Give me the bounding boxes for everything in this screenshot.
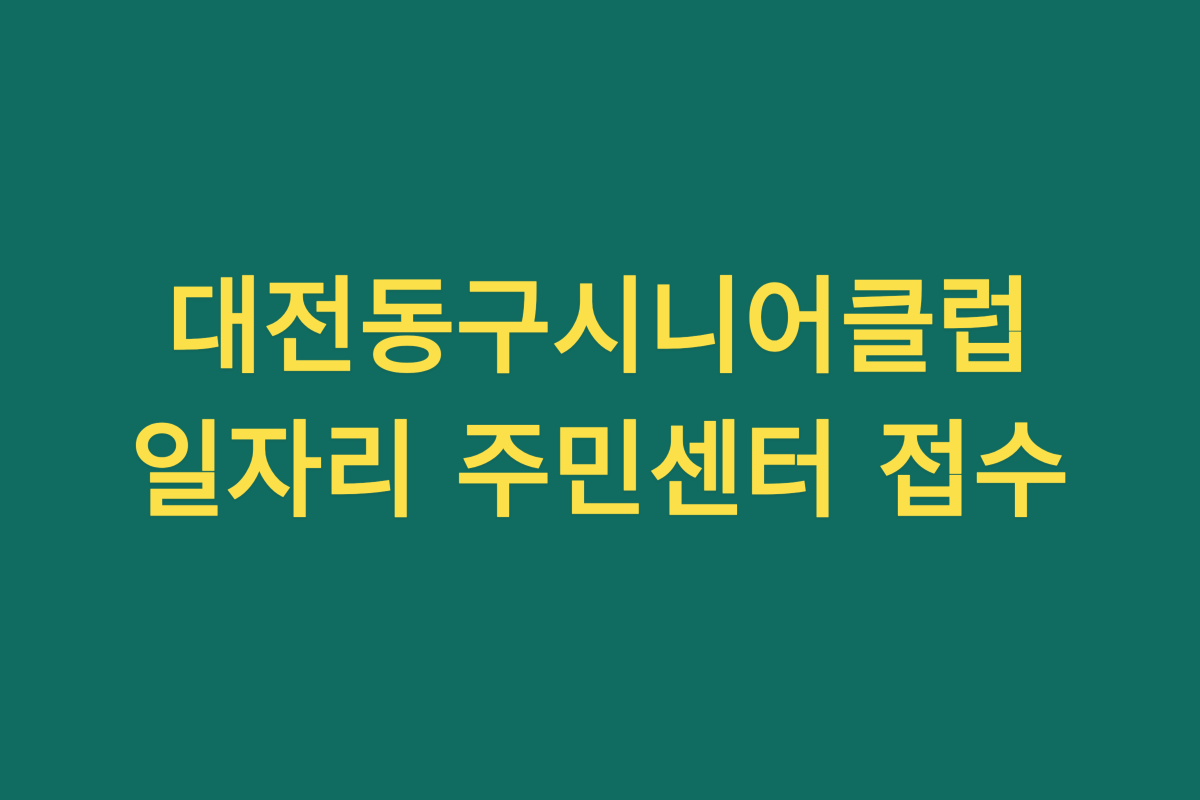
banner-canvas: 대전동구시니어클럽 일자리 주민센터 접수 (0, 0, 1200, 800)
banner-headline: 대전동구시니어클럽 일자리 주민센터 접수 (110, 256, 1090, 543)
